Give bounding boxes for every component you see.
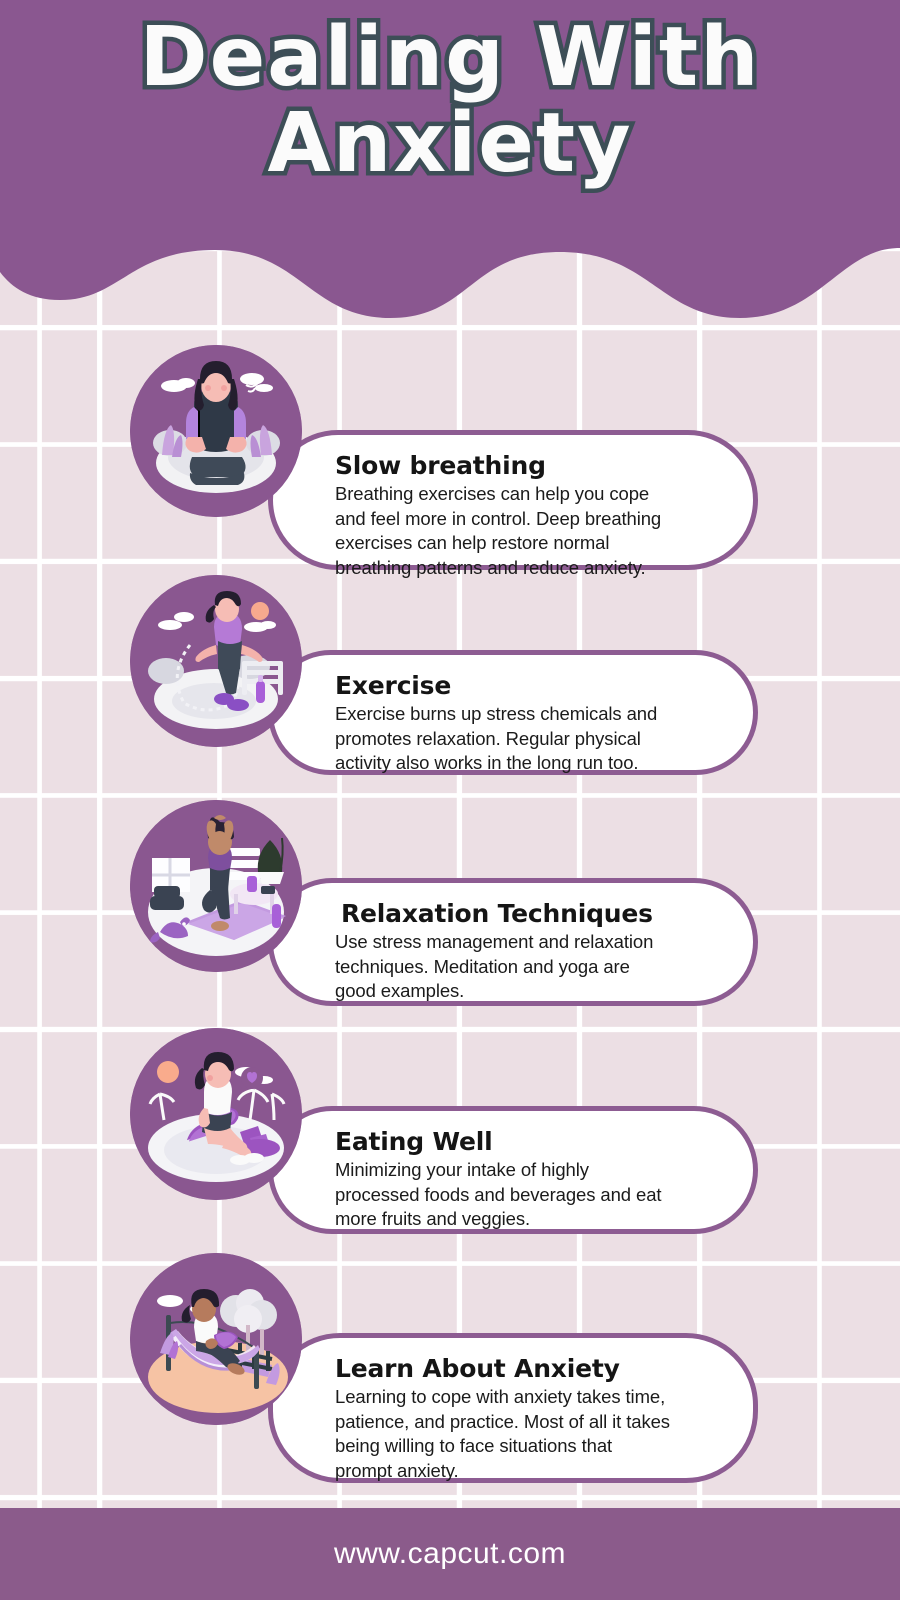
header-banner: Dealing With Anxiety [0,0,900,330]
card-body: Breathing exercises can help you cope an… [335,482,719,580]
woman-yoga-tree-pose-illustration [130,800,302,972]
card-title: Exercise [335,671,719,700]
card-exercise[interactable]: Exercise Exercise burns up stress chemic… [268,650,758,775]
footer-bar: www.capcut.com [0,1508,900,1600]
card-eating-well[interactable]: Eating Well Minimizing your intake of hi… [268,1106,758,1234]
card-body: Minimizing your intake of highly process… [335,1158,719,1232]
card-learn-about-anxiety[interactable]: Learn About Anxiety Learning to cope wit… [268,1333,758,1483]
card-slow-breathing[interactable]: Slow breathing Breathing exercises can h… [268,430,758,570]
card-title: Eating Well [335,1127,719,1156]
card-relaxation-techniques[interactable]: Relaxation Techniques Use stress managem… [268,878,758,1006]
woman-eating-watermelon-beach-illustration [130,1028,302,1200]
woman-meditating-lotus-illustration [130,345,302,517]
card-title: Relaxation Techniques [341,899,719,928]
header-wave-shape [0,0,900,330]
woman-jumping-rope-illustration [130,575,302,747]
card-title: Slow breathing [335,451,719,480]
person-reading-in-hammock-illustration [130,1253,302,1425]
card-body: Learning to cope with anxiety takes time… [335,1385,719,1483]
card-title: Learn About Anxiety [335,1354,719,1383]
card-body: Exercise burns up stress chemicals and p… [335,702,719,776]
footer-website-url[interactable]: www.capcut.com [334,1537,566,1571]
card-body: Use stress management and relaxation tec… [335,930,719,1004]
